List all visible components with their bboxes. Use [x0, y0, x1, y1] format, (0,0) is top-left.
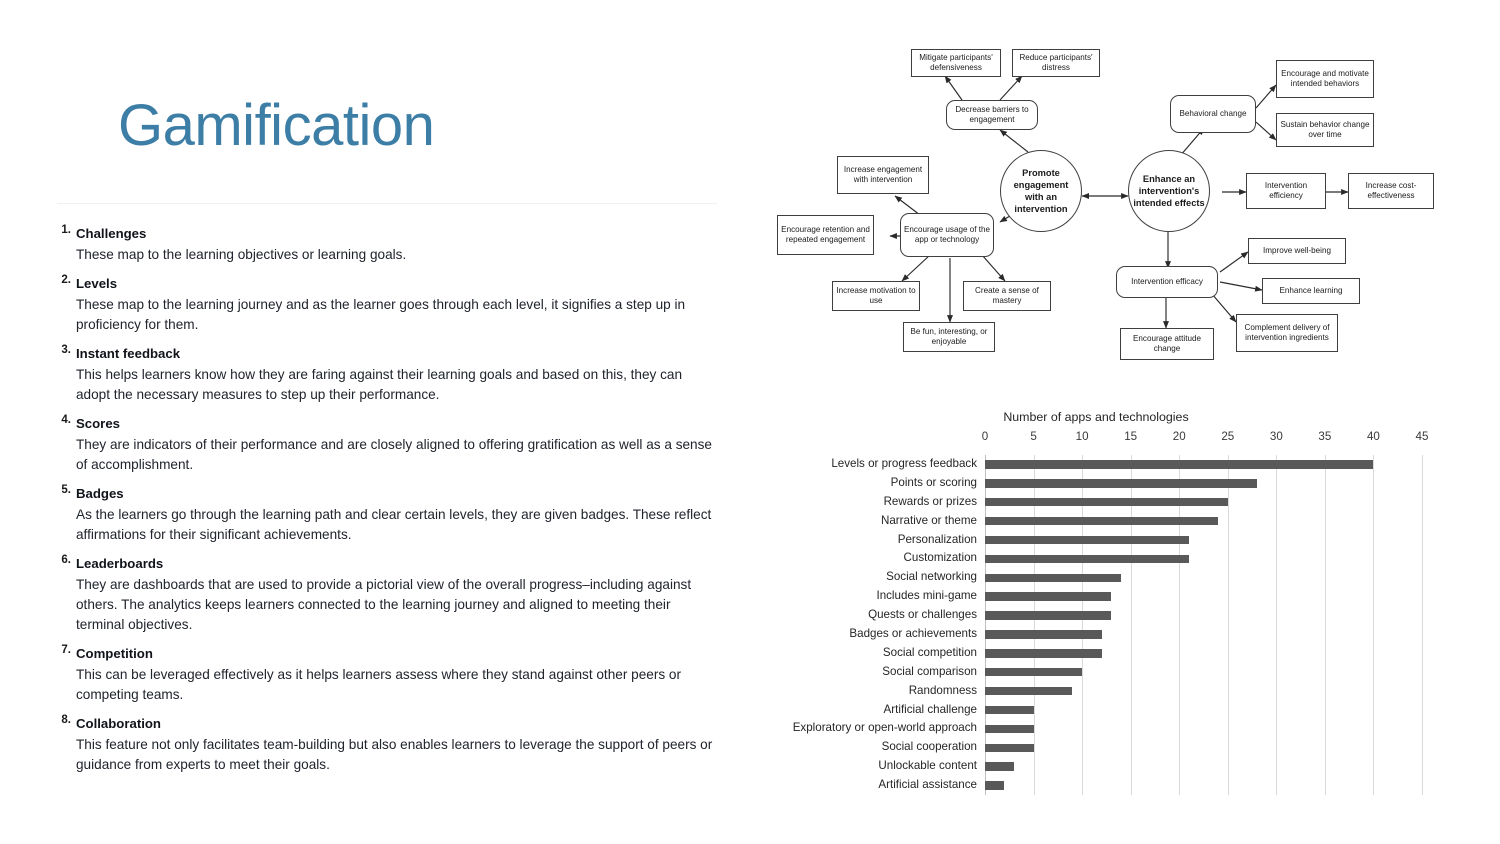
node-increase-cost-effectiveness: Increase cost-effectiveness	[1348, 173, 1434, 209]
list-item: 7.CompetitionThis can be leveraged effec…	[57, 644, 717, 705]
chart-bar	[985, 762, 1014, 771]
node-encourage-motivate: Encourage and motivate intended behavior…	[1276, 60, 1374, 98]
list-item: 5.BadgesAs the learners go through the l…	[57, 484, 717, 545]
chart-bar	[985, 498, 1228, 507]
list-item-term: Leaderboards	[76, 554, 717, 574]
node-complement-delivery: Complement delivery of intervention ingr…	[1236, 314, 1338, 352]
chart-category-label: Rewards or prizes	[884, 493, 985, 512]
chart-bar	[985, 460, 1373, 469]
chart-bar-row: Customization	[985, 549, 1422, 568]
chart-bar	[985, 706, 1034, 715]
chart-title: Number of apps and technologies	[760, 410, 1500, 424]
node-intervention-efficacy: Intervention efficacy	[1116, 266, 1218, 298]
x-axis-tick-label: 5	[1030, 430, 1036, 443]
chart-bar	[985, 725, 1034, 734]
list-item-term: Collaboration	[76, 714, 717, 734]
chart-bar-row: Points or scoring	[985, 474, 1422, 493]
list-item-number: 1.	[55, 224, 71, 236]
list-item: 6.LeaderboardsThey are dashboards that a…	[57, 554, 717, 635]
list-item-term: Instant feedback	[76, 344, 717, 364]
node-reduce-distress: Reduce participants' distress	[1012, 49, 1100, 77]
x-axis-tick-label: 40	[1367, 430, 1380, 443]
x-axis-tick-label: 20	[1173, 430, 1186, 443]
node-increase-engagement: Increase engagement with intervention	[837, 156, 929, 194]
node-sustain-behavior: Sustain behavior change over time	[1276, 113, 1374, 147]
chart-bar-row: Unlockable content	[985, 757, 1422, 776]
node-encourage-usage: Encourage usage of the app or technology	[900, 213, 994, 257]
list-item-number: 2.	[55, 274, 71, 286]
node-create-mastery: Create a sense of mastery	[963, 281, 1051, 311]
list-item-description: This can be leveraged effectively as it …	[76, 665, 717, 705]
chart-category-label: Quests or challenges	[868, 606, 985, 625]
list-item: 2.LevelsThese map to the learning journe…	[57, 274, 717, 335]
chart-bar-row: Quests or challenges	[985, 606, 1422, 625]
slide-right-column: Mitigate participants' defensiveness Red…	[760, 0, 1500, 844]
chart-bar	[985, 479, 1257, 488]
chart-bar-row: Social cooperation	[985, 738, 1422, 757]
list-item-description: This feature not only facilitates team-b…	[76, 735, 717, 775]
engagement-flow-diagram: Mitigate participants' defensiveness Red…	[760, 0, 1500, 390]
list-item-description: As the learners go through the learning …	[76, 505, 717, 545]
list-item: 1.ChallengesThese map to the learning ob…	[57, 224, 717, 265]
chart-title-text: Number of apps and technologies	[1003, 410, 1188, 424]
list-item: 3.Instant feedbackThis helps learners kn…	[57, 344, 717, 405]
chart-category-label: Social cooperation	[882, 738, 985, 757]
chart-category-label: Artificial challenge	[884, 701, 985, 720]
hub-promote-engagement: Promote engagement with an intervention	[1000, 150, 1082, 232]
list-item-description: These map to the learning journey and as…	[76, 295, 717, 335]
chart-category-label: Social comparison	[882, 663, 985, 682]
list-item: 8.CollaborationThis feature not only fac…	[57, 714, 717, 775]
x-axis-tick-label: 35	[1318, 430, 1331, 443]
chart-bar-row: Randomness	[985, 682, 1422, 701]
list-item-description: They are dashboards that are used to pro…	[76, 575, 717, 635]
chart-bar-row: Artificial assistance	[985, 776, 1422, 795]
node-encourage-attitude: Encourage attitude change	[1120, 328, 1214, 360]
chart-bar-row: Badges or achievements	[985, 625, 1422, 644]
hub-enhance-intervention: Enhance an intervention's intended effec…	[1128, 150, 1210, 232]
chart-bar-row: Levels or progress feedback	[985, 455, 1422, 474]
chart-category-label: Levels or progress feedback	[831, 455, 985, 474]
list-item-description: This helps learners know how they are fa…	[76, 365, 717, 405]
list-item-term: Competition	[76, 644, 717, 664]
list-item: 4.ScoresThey are indicators of their per…	[57, 414, 717, 475]
chart-bar-row: Personalization	[985, 531, 1422, 550]
chart-category-label: Exploratory or open-world approach	[793, 719, 985, 738]
x-axis-tick-label: 0	[982, 430, 988, 443]
list-item-number: 5.	[55, 484, 71, 496]
chart-bar	[985, 517, 1218, 526]
chart-category-label: Narrative or theme	[881, 512, 985, 531]
node-mitigate-defensiveness: Mitigate participants' defensiveness	[911, 49, 1001, 77]
chart-bar-row: Artificial challenge	[985, 701, 1422, 720]
chart-bar	[985, 555, 1189, 564]
node-behavioral-change: Behavioral change	[1170, 95, 1256, 133]
node-encourage-retention: Encourage retention and repeated engagem…	[777, 215, 874, 255]
chart-bar	[985, 781, 1004, 790]
node-enhance-learning: Enhance learning	[1262, 278, 1360, 304]
chart-bar	[985, 668, 1082, 677]
list-item-term: Levels	[76, 274, 717, 294]
chart-category-label: Unlockable content	[878, 757, 985, 776]
chart-category-label: Randomness	[909, 682, 985, 701]
gamification-feature-list: 1.ChallengesThese map to the learning ob…	[57, 224, 717, 784]
chart-bar	[985, 536, 1189, 545]
list-item-number: 8.	[55, 714, 71, 726]
chart-bar	[985, 592, 1111, 601]
node-improve-wellbeing: Improve well-being	[1248, 238, 1346, 264]
x-axis-tick-label: 15	[1124, 430, 1137, 443]
list-item-term: Scores	[76, 414, 717, 434]
chart-category-label: Social competition	[883, 644, 985, 663]
chart-category-label: Points or scoring	[891, 474, 985, 493]
x-axis-tick-label: 25	[1221, 430, 1234, 443]
page-title: Gamification	[118, 96, 434, 157]
x-axis-tick-label: 30	[1270, 430, 1283, 443]
chart-bar-row: Social networking	[985, 568, 1422, 587]
chart-plot-area: 051015202530354045Levels or progress fee…	[985, 455, 1422, 795]
chart-category-label: Personalization	[898, 531, 985, 550]
chart-bar	[985, 574, 1121, 583]
list-item-term: Badges	[76, 484, 717, 504]
chart-bar-row: Exploratory or open-world approach	[985, 719, 1422, 738]
node-increase-motivation: Increase motivation to use	[832, 281, 920, 311]
list-item-description: They are indicators of their performance…	[76, 435, 717, 475]
list-item-number: 4.	[55, 414, 71, 426]
list-item-term: Challenges	[76, 224, 717, 244]
chart-bar	[985, 649, 1102, 658]
node-decrease-barriers: Decrease barriers to engagement	[946, 100, 1038, 130]
x-axis-tick-label: 45	[1416, 430, 1429, 443]
chart-bar	[985, 687, 1072, 696]
chart-bar-row: Social competition	[985, 644, 1422, 663]
list-item-number: 3.	[55, 344, 71, 356]
apps-technologies-bar-chart: Number of apps and technologies 05101520…	[760, 400, 1500, 820]
chart-bar-row: Narrative or theme	[985, 512, 1422, 531]
x-axis-tick-label: 10	[1076, 430, 1089, 443]
chart-gridline	[1422, 455, 1423, 795]
chart-category-label: Badges or achievements	[849, 625, 985, 644]
chart-bar-row: Rewards or prizes	[985, 493, 1422, 512]
chart-category-label: Includes mini-game	[876, 587, 985, 606]
chart-category-label: Artificial assistance	[878, 776, 985, 795]
chart-category-label: Social networking	[886, 568, 985, 587]
chart-category-label: Customization	[904, 549, 985, 568]
node-intervention-efficiency: Intervention efficiency	[1246, 173, 1326, 209]
list-item-number: 7.	[55, 644, 71, 656]
chart-bar	[985, 744, 1034, 753]
list-item-number: 6.	[55, 554, 71, 566]
slide-left-column: Gamification 1.ChallengesThese map to th…	[0, 0, 760, 844]
node-be-fun: Be fun, interesting, or enjoyable	[903, 322, 995, 352]
chart-bar-row: Social comparison	[985, 663, 1422, 682]
list-item-description: These map to the learning objectives or …	[76, 245, 717, 265]
chart-bar	[985, 611, 1111, 620]
chart-bar	[985, 630, 1102, 639]
title-divider	[57, 203, 717, 204]
chart-bar-row: Includes mini-game	[985, 587, 1422, 606]
